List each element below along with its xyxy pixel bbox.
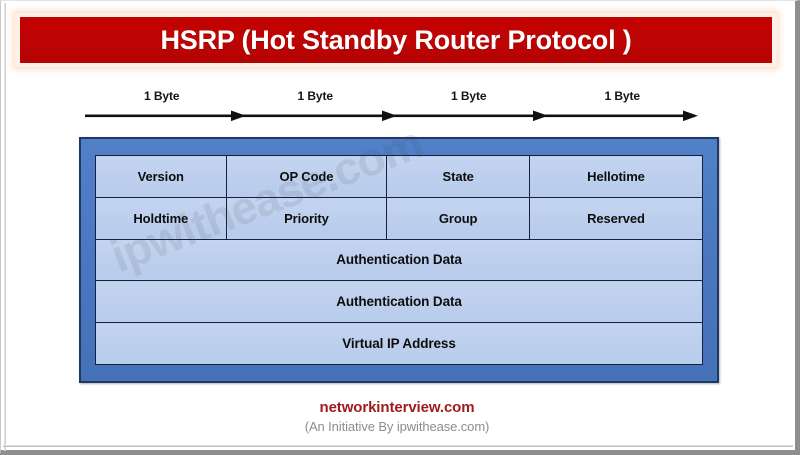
byte-ruler: 1 Byte 1 Byte 1 Byte 1 Byte — [85, 89, 699, 123]
field-state: State — [387, 156, 530, 198]
table-row: Authentication Data — [96, 281, 703, 323]
field-authentication-data-2: Authentication Data — [96, 281, 703, 323]
field-holdtime: Holdtime — [96, 197, 227, 239]
page-canvas: HSRP (Hot Standby Router Protocol ) 1 By… — [0, 0, 800, 455]
hsrp-packet-table: Version OP Code State Hellotime Holdtime… — [95, 155, 703, 365]
ruler-arrowhead-2 — [382, 111, 397, 122]
title-banner: HSRP (Hot Standby Router Protocol ) — [15, 13, 777, 67]
byte-label-1: 1 Byte — [85, 89, 239, 103]
ruler-arrowhead-3 — [533, 111, 548, 122]
ruler-arrowhead-4 — [683, 111, 698, 122]
field-virtual-ip-address: Virtual IP Address — [96, 323, 703, 365]
page-title: HSRP (Hot Standby Router Protocol ) — [160, 25, 631, 56]
byte-label-2: 1 Byte — [239, 89, 393, 103]
table-row: Holdtime Priority Group Reserved — [96, 197, 703, 239]
ruler-arrowhead-1 — [231, 111, 246, 122]
field-version: Version — [96, 156, 227, 198]
byte-ruler-arrow-line — [85, 109, 699, 123]
packet-frame: Version OP Code State Hellotime Holdtime… — [79, 137, 719, 383]
table-row: Version OP Code State Hellotime — [96, 156, 703, 198]
byte-ruler-labels: 1 Byte 1 Byte 1 Byte 1 Byte — [85, 89, 699, 103]
footer: networkinterview.com (An Initiative By i… — [1, 399, 793, 434]
footer-subtitle: (An Initiative By ipwithease.com) — [1, 419, 793, 434]
title-banner-bar: HSRP (Hot Standby Router Protocol ) — [20, 17, 772, 63]
field-priority: Priority — [226, 197, 387, 239]
field-op-code: OP Code — [226, 156, 387, 198]
byte-label-4: 1 Byte — [546, 89, 700, 103]
field-hellotime: Hellotime — [529, 156, 702, 198]
field-reserved: Reserved — [529, 197, 702, 239]
table-row: Virtual IP Address — [96, 323, 703, 365]
field-authentication-data-1: Authentication Data — [96, 239, 703, 281]
footer-site-name: networkinterview.com — [1, 399, 793, 416]
table-row: Authentication Data — [96, 239, 703, 281]
byte-label-3: 1 Byte — [392, 89, 546, 103]
field-group: Group — [387, 197, 530, 239]
